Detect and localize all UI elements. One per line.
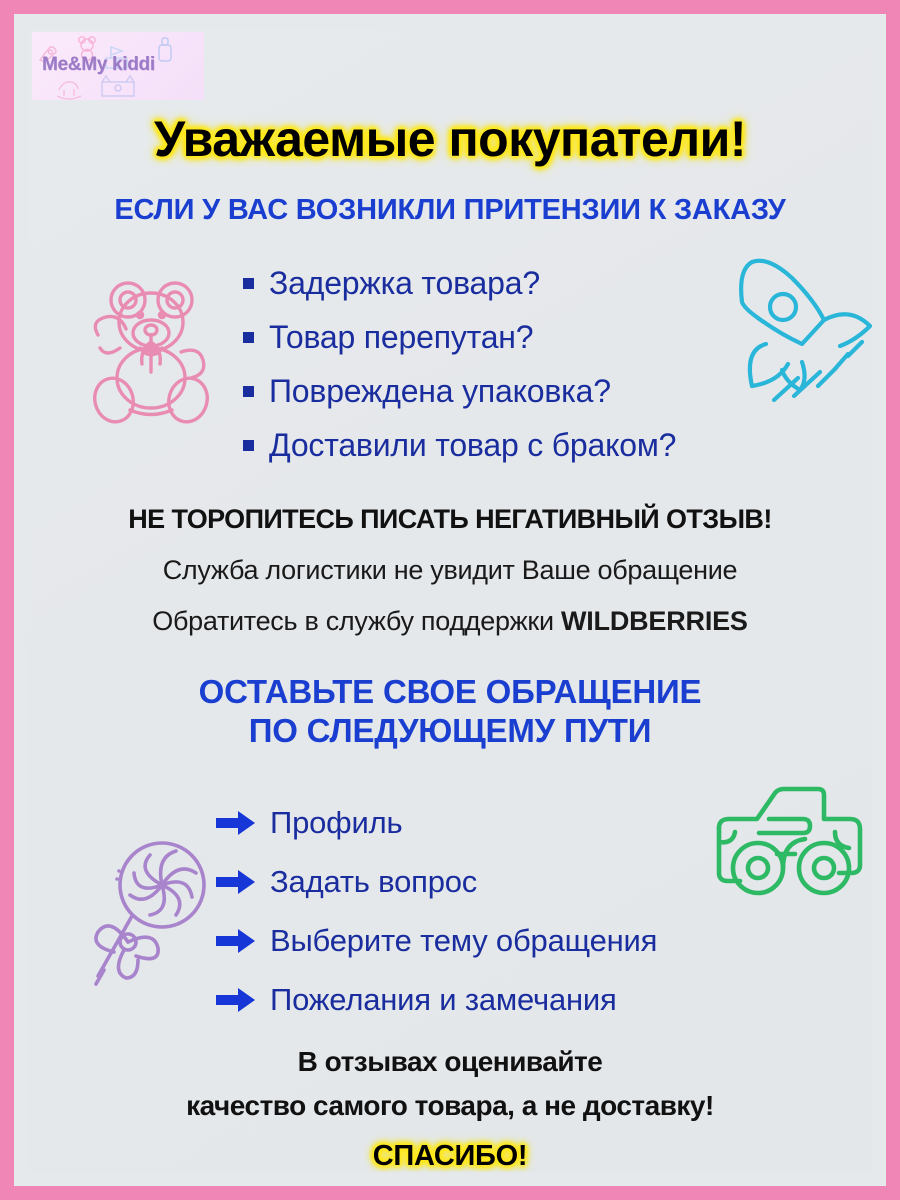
square-bullet-icon — [243, 440, 254, 451]
path-heading: ОСТАВЬТЕ СВОЕ ОБРАЩЕНИЕ ПО СЛЕДУЮЩЕМУ ПУ… — [28, 673, 872, 750]
steps-list: Профиль Задать вопрос Выберите тему обра… — [216, 793, 816, 1029]
list-item: Задержка товара? — [243, 256, 803, 310]
step-label: Выберите тему обращения — [270, 923, 657, 959]
thanks-text: СПАСИБО! — [28, 1140, 872, 1172]
right-arrow-icon — [216, 928, 256, 954]
square-bullet-icon — [243, 386, 254, 397]
note-line-2: Обратитесь в службу поддержки WILDBERRIE… — [28, 606, 872, 637]
list-item: Доставили товар с браком? — [243, 418, 803, 472]
issues-list: Задержка товара? Товар перепутан? Повреж… — [243, 256, 803, 472]
list-item: Выберите тему обращения — [216, 911, 816, 970]
issue-label: Задержка товара? — [269, 265, 540, 302]
teddy-bear-icon — [80, 260, 220, 430]
logo-bottle-icon — [154, 36, 176, 64]
right-arrow-icon — [216, 869, 256, 895]
path-heading-line-1: ОСТАВЬТЕ СВОЕ ОБРАЩЕНИЕ — [28, 673, 872, 712]
list-item: Профиль — [216, 793, 816, 852]
step-label: Профиль — [270, 805, 402, 841]
path-heading-line-2: ПО СЛЕДУЮЩЕМУ ПУТИ — [28, 712, 872, 751]
logo-rocking-horse-icon — [54, 76, 84, 100]
poster-canvas: Me&My kiddi Уважаемые покупатели! ЕСЛИ У… — [28, 28, 872, 1172]
note-line-2-prefix: Обратитесь в службу поддержки — [152, 606, 561, 636]
lollipop-icon — [84, 830, 224, 995]
brand-logo-text: Me&My kiddi — [42, 54, 155, 76]
note-line-1: Служба логистики не увидит Ваше обращени… — [28, 555, 872, 586]
square-bullet-icon — [243, 332, 254, 343]
issue-label: Повреждена упаковка? — [269, 373, 611, 410]
right-arrow-icon — [216, 987, 256, 1013]
promo-poster: Me&My kiddi Уважаемые покупатели! ЕСЛИ У… — [0, 0, 900, 1200]
issue-label: Товар перепутан? — [269, 319, 533, 356]
footer-line-2: качество самого товара, а не доставку! — [28, 1090, 872, 1122]
list-item: Пожелания и замечания — [216, 970, 816, 1029]
marketplace-name: WILDBERRIES — [561, 606, 748, 636]
brand-logo: Me&My kiddi — [32, 32, 204, 100]
square-bullet-icon — [243, 278, 254, 289]
footer-line-1: В отзывах оценивайте — [28, 1046, 872, 1078]
list-item: Товар перепутан? — [243, 310, 803, 364]
page-title: Уважаемые покупатели! — [28, 110, 872, 168]
right-arrow-icon — [216, 810, 256, 836]
list-item: Задать вопрос — [216, 852, 816, 911]
step-label: Пожелания и замечания — [270, 982, 617, 1018]
issue-label: Доставили товар с браком? — [269, 427, 676, 464]
step-label: Задать вопрос — [270, 864, 477, 900]
subheading: ЕСЛИ У ВАС ВОЗНИКЛИ ПРИТЕНЗИИ К ЗАКАЗУ — [28, 194, 872, 227]
warning-text: НЕ ТОРОПИТЕСЬ ПИСАТЬ НЕГАТИВНЫЙ ОТЗЫВ! — [28, 504, 872, 535]
list-item: Повреждена упаковка? — [243, 364, 803, 418]
